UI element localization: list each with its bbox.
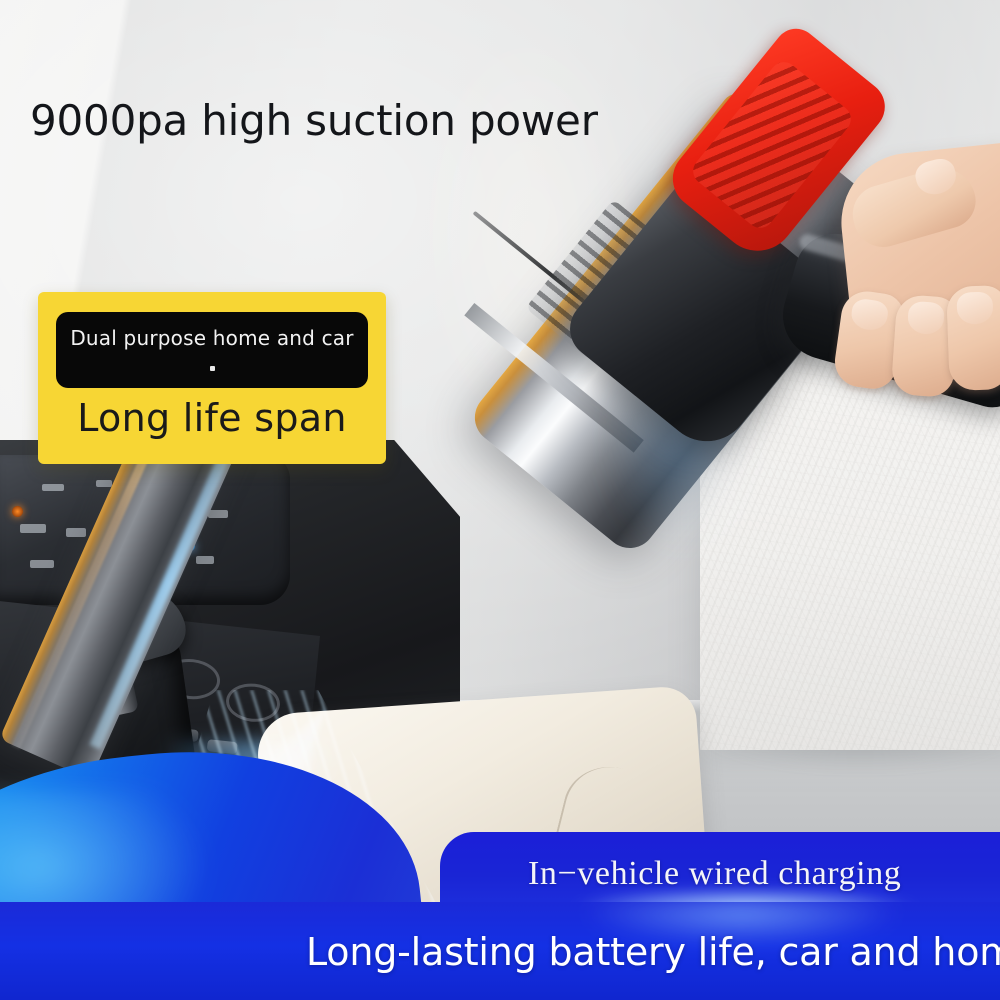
fingernail [907,301,945,335]
feature-badge-pill: Dual purpose home and car [56,312,368,388]
product-promo-image: 9000pa high suction power Dual purpose h… [0,0,1000,1000]
battery-caption: Long-lasting battery life, car and home … [306,930,1000,974]
fingernail [956,291,993,324]
fingernail [850,297,890,332]
charging-caption: In−vehicle wired charging [528,855,901,893]
headline-text: 9000pa high suction power [30,96,598,145]
feature-badge-subtitle: Long life span [38,396,386,440]
finger [946,285,1000,391]
feature-badge-dot [210,366,215,371]
feature-badge-pill-label: Dual purpose home and car [56,326,368,350]
feature-badge: Dual purpose home and car Long life span [38,292,386,464]
